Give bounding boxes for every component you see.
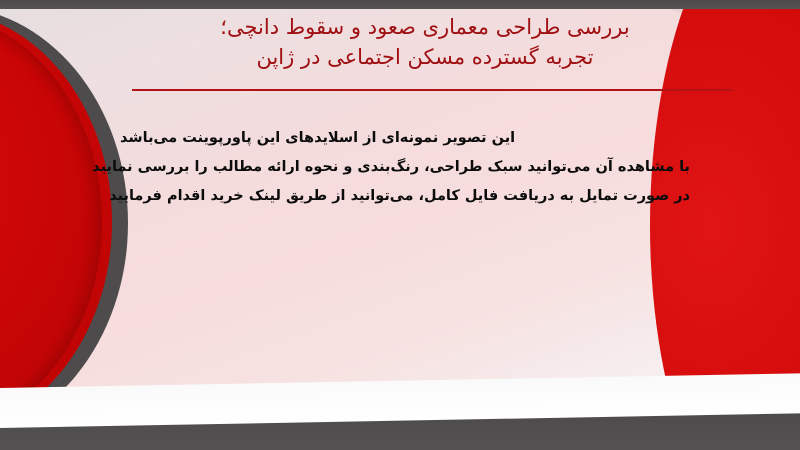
- slide-title: بررسی طراحی معماری صعود و سقوط دانچی؛ تج…: [110, 12, 740, 72]
- body-line-2: با مشاهده آن می‌توانید سبک طراحی، رنگ‌بن…: [120, 153, 690, 182]
- presentation-slide: بررسی طراحی معماری صعود و سقوط دانچی؛ تج…: [0, 0, 800, 450]
- slide-content: بررسی طراحی معماری صعود و سقوط دانچی؛ تج…: [0, 0, 800, 450]
- body-line-3: در صورت تمایل به دریافت فایل کامل، می‌تو…: [120, 182, 690, 211]
- title-line-2: تجربه گسترده مسکن اجتماعی در ژاپن: [110, 42, 740, 72]
- title-line-1: بررسی طراحی معماری صعود و سقوط دانچی؛: [110, 12, 740, 42]
- title-underline-rule: [132, 89, 733, 91]
- body-line-1: این تصویر نمونه‌ای از اسلایدهای این پاور…: [120, 124, 690, 153]
- slide-body: این تصویر نمونه‌ای از اسلایدهای این پاور…: [120, 124, 690, 211]
